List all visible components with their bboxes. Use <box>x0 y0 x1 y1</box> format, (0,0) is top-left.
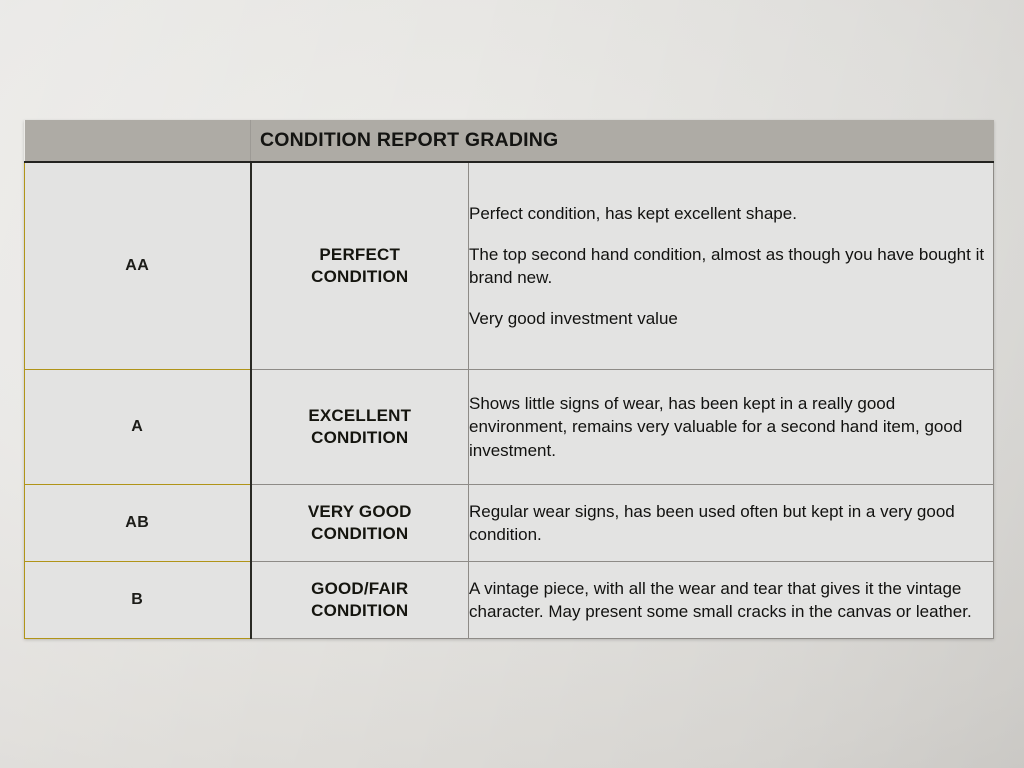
condition-label-line1: EXCELLENT <box>252 405 469 427</box>
condition-cell-aa: PERFECT CONDITION <box>251 162 469 370</box>
grade-cell-aa: AA <box>25 162 251 370</box>
grade-cell-a: A <box>25 370 251 485</box>
description-text: Perfect condition, has kept excellent sh… <box>469 202 993 330</box>
description-cell-aa: Perfect condition, has kept excellent sh… <box>469 162 994 370</box>
table-row: AB VERY GOOD CONDITION Regular wear sign… <box>25 484 994 561</box>
condition-cell-a: EXCELLENT CONDITION <box>251 370 469 485</box>
description-cell-ab: Regular wear signs, has been used often … <box>469 484 994 561</box>
grade-label: B <box>131 591 143 608</box>
header-cell-left <box>25 120 251 162</box>
description-paragraph: Regular wear signs, has been used often … <box>469 500 993 547</box>
grade-label: A <box>131 418 143 435</box>
description-cell-a: Shows little signs of wear, has been kep… <box>469 370 994 485</box>
condition-label: GOOD/FAIR CONDITION <box>252 578 469 622</box>
grade-cell-b: B <box>25 561 251 638</box>
condition-cell-b: GOOD/FAIR CONDITION <box>251 561 469 638</box>
condition-label: PERFECT CONDITION <box>252 244 469 288</box>
table-row: AA PERFECT CONDITION Perfect condition, … <box>25 162 994 370</box>
condition-label-line2: CONDITION <box>252 523 469 545</box>
description-paragraph: Perfect condition, has kept excellent sh… <box>469 202 993 225</box>
condition-cell-ab: VERY GOOD CONDITION <box>251 484 469 561</box>
condition-label-line1: PERFECT <box>252 244 469 266</box>
condition-label-line2: CONDITION <box>252 266 469 288</box>
table-row: B GOOD/FAIR CONDITION A vintage piece, w… <box>25 561 994 638</box>
condition-report-grading-table: CONDITION REPORT GRADING AA PERFECT COND… <box>24 120 994 639</box>
condition-label-line2: CONDITION <box>252 600 469 622</box>
description-text: A vintage piece, with all the wear and t… <box>469 577 993 624</box>
table-header-row: CONDITION REPORT GRADING <box>25 120 994 162</box>
condition-label-line1: GOOD/FAIR <box>252 578 469 600</box>
condition-label: EXCELLENT CONDITION <box>252 405 469 449</box>
description-cell-b: A vintage piece, with all the wear and t… <box>469 561 994 638</box>
table-row: A EXCELLENT CONDITION Shows little signs… <box>25 370 994 485</box>
condition-label-line2: CONDITION <box>252 427 469 449</box>
header-cell-title: CONDITION REPORT GRADING <box>251 120 994 162</box>
grade-label: AB <box>125 514 149 531</box>
condition-label-line1: VERY GOOD <box>252 501 469 523</box>
grade-label: AA <box>125 257 149 274</box>
description-text: Regular wear signs, has been used often … <box>469 500 993 547</box>
description-text: Shows little signs of wear, has been kep… <box>469 392 993 462</box>
page-title: CONDITION REPORT GRADING <box>251 129 994 152</box>
description-paragraph: The top second hand condition, almost as… <box>469 243 993 290</box>
condition-label: VERY GOOD CONDITION <box>252 501 469 545</box>
description-paragraph: A vintage piece, with all the wear and t… <box>469 577 993 624</box>
description-paragraph: Shows little signs of wear, has been kep… <box>469 392 993 462</box>
grade-cell-ab: AB <box>25 484 251 561</box>
description-paragraph: Very good investment value <box>469 307 993 330</box>
